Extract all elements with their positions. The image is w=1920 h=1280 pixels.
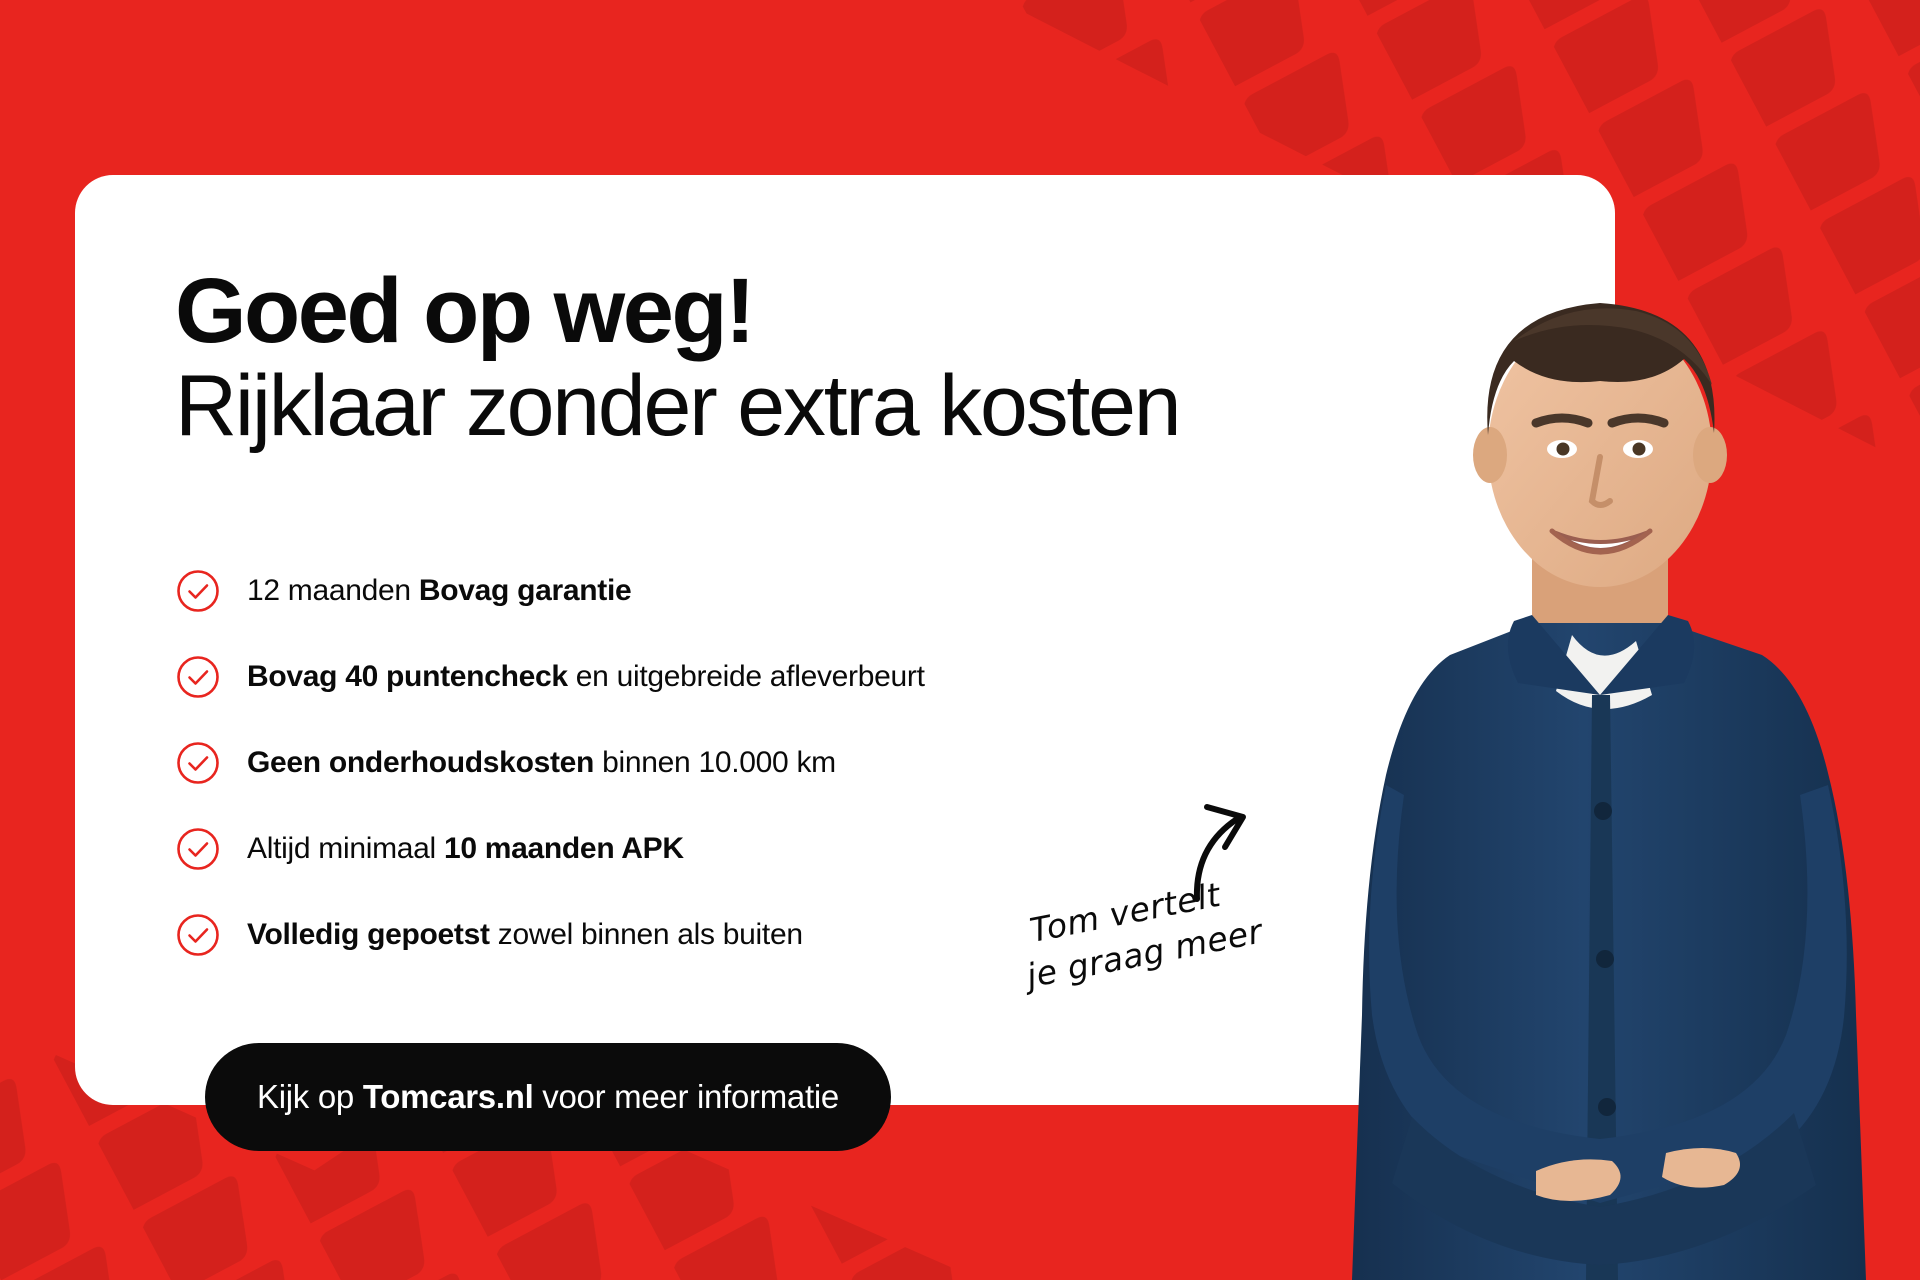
check-circle-icon <box>176 655 220 699</box>
promo-banner: Goed op weg! Rijklaar zonder extra koste… <box>0 0 1920 1280</box>
list-item-label: Bovag 40 puntencheck en uitgebreide afle… <box>247 660 925 694</box>
person-photo-tom <box>1300 255 1920 1280</box>
list-item-label: Geen onderhoudskosten binnen 10.000 km <box>247 746 836 780</box>
list-item: Bovag 40 puntencheck en uitgebreide afle… <box>176 634 1226 720</box>
list-item-label: Altijd minimaal 10 maanden APK <box>247 832 684 866</box>
heading-group: Goed op weg! Rijklaar zonder extra koste… <box>175 265 1475 451</box>
page-title: Goed op weg! <box>175 265 1475 357</box>
list-item: Altijd minimaal 10 maanden APK <box>176 806 1226 892</box>
cta-button[interactable]: Kijk op Tomcars.nl voor meer informatie <box>205 1043 891 1151</box>
list-item-label: 12 maanden Bovag garantie <box>247 574 631 608</box>
cta-label: Kijk op Tomcars.nl voor meer informatie <box>257 1078 839 1116</box>
check-circle-icon <box>176 827 220 871</box>
list-item-label: Volledig gepoetst zowel binnen als buite… <box>247 918 803 952</box>
list-item: 12 maanden Bovag garantie <box>176 548 1226 634</box>
check-circle-icon <box>176 913 220 957</box>
page-subtitle: Rijklaar zonder extra kosten <box>175 361 1475 451</box>
list-item: Geen onderhoudskosten binnen 10.000 km <box>176 720 1226 806</box>
check-circle-icon <box>176 569 220 613</box>
check-circle-icon <box>176 741 220 785</box>
